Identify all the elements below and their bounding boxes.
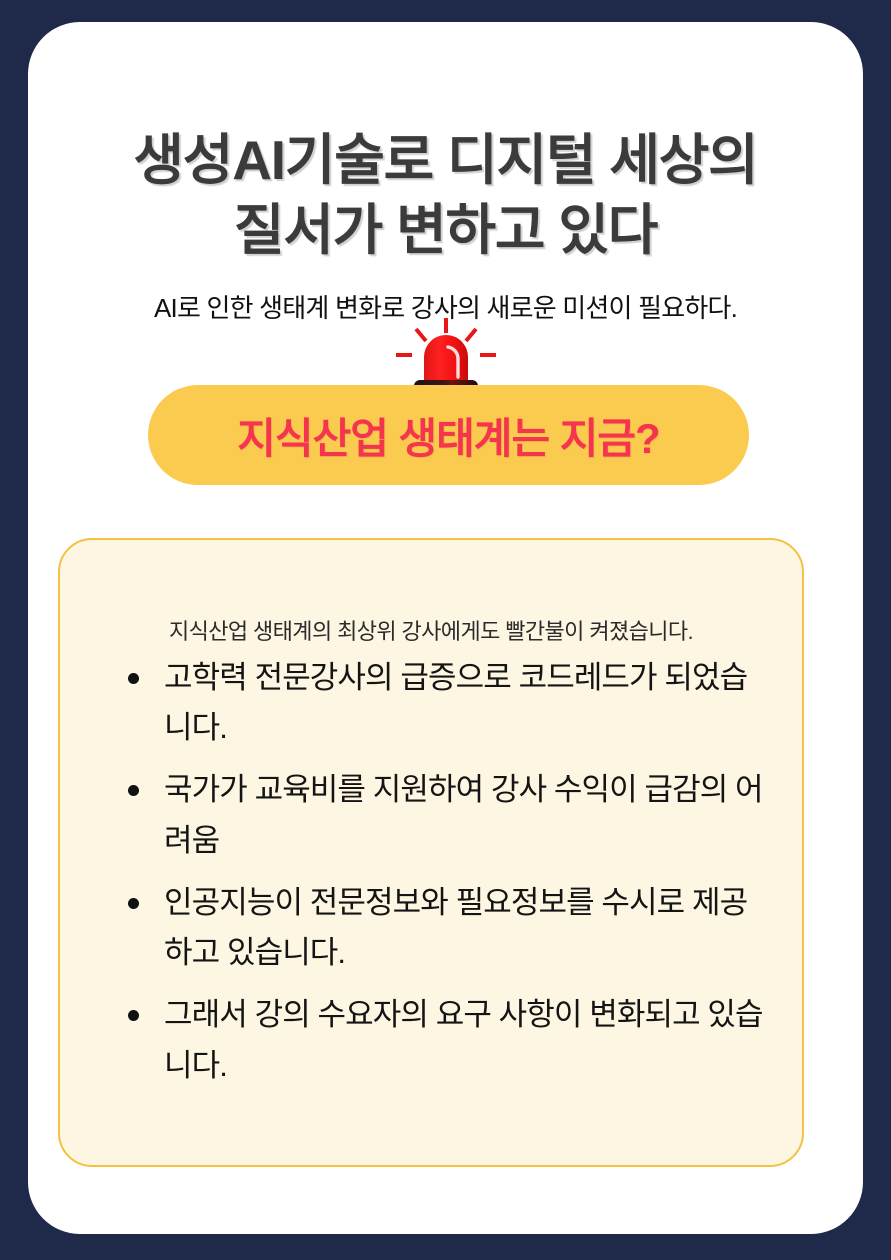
list-item: 국가가 교육비를 지원하여 강사 수익이 급감의 어려움 <box>118 765 772 865</box>
bullet-dot-icon <box>128 785 139 796</box>
list-item-text: 고학력 전문강사의 급증으로 코드레드가 되었습니다. <box>164 660 747 745</box>
main-card: 생성AI기술로 디지털 세상의 질서가 변하고 있다 AI로 인한 생태계 변화… <box>28 22 863 1234</box>
bullet-dot-icon <box>128 1010 139 1021</box>
bullet-dot-icon <box>128 898 139 909</box>
list-item: 고학력 전문강사의 급증으로 코드레드가 되었습니다. <box>118 653 772 753</box>
status-badge: 지식산업 생태계는 지금? <box>148 385 749 485</box>
list-item-text: 그래서 강의 수요자의 요구 사항이 변화되고 있습니다. <box>164 997 763 1082</box>
poster-root: 생성AI기술로 디지털 세상의 질서가 변하고 있다 AI로 인한 생태계 변화… <box>0 0 891 1260</box>
bullet-dot-icon <box>128 673 139 684</box>
content-panel: 지식산업 생태계의 최상위 강사에게도 빨간불이 켜졌습니다. 고학력 전문강사… <box>58 538 804 1167</box>
list-item-text: 인공지능이 전문정보와 필요정보를 수시로 제공하고 있습니다. <box>164 885 747 970</box>
list-item: 그래서 강의 수요자의 요구 사항이 변화되고 있습니다. <box>118 990 772 1090</box>
list-item-text: 국가가 교육비를 지원하여 강사 수익이 급감의 어려움 <box>164 772 763 857</box>
bullet-list: 고학력 전문강사의 급증으로 코드레드가 되었습니다. 국가가 교육비를 지원하… <box>118 653 772 1103</box>
list-item: 인공지능이 전문정보와 필요정보를 수시로 제공하고 있습니다. <box>118 878 772 978</box>
status-badge-label: 지식산업 생태계는 지금? <box>237 405 659 466</box>
panel-lead-text: 지식산업 생태계의 최상위 강사에게도 빨간불이 켜졌습니다. <box>60 614 802 646</box>
page-title: 생성AI기술로 디지털 세상의 질서가 변하고 있다 <box>28 125 863 266</box>
